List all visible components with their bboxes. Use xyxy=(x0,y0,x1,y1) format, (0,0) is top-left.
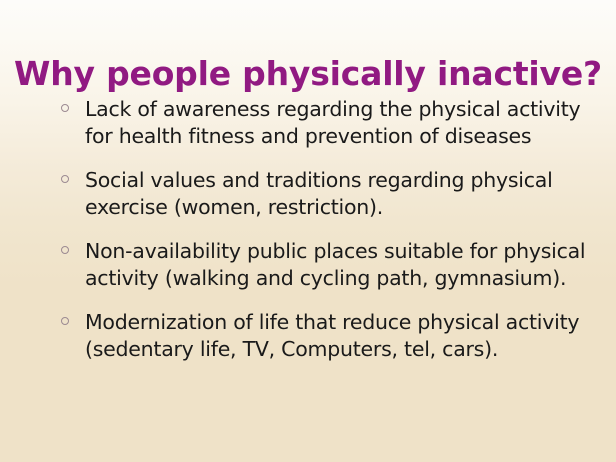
bullet-item-2-line-2: exercise (women, restriction). xyxy=(85,194,570,221)
bullet-item-3-line-2: activity (walking and cycling path, gymn… xyxy=(85,265,570,292)
hollow-circle-bullet-icon xyxy=(61,246,69,254)
bullet-item-1-line-2: for health fitness and prevention of dis… xyxy=(85,123,570,150)
bullet-item-4-line-2: (sedentary life, TV, Computers, tel, car… xyxy=(85,336,570,363)
presentation-slide: Why people physically inactive? Lack of … xyxy=(0,0,616,462)
bullet-item-3: Non-availability public places suitable … xyxy=(58,238,570,292)
hollow-circle-bullet-icon xyxy=(61,317,69,325)
bullet-item-2: Social values and traditions regarding p… xyxy=(58,167,570,221)
bullet-item-2-line-1: Social values and traditions regarding p… xyxy=(85,167,570,194)
bullet-item-3-line-1: Non-availability public places suitable … xyxy=(85,238,570,265)
bullet-item-4-line-1: Modernization of life that reduce physic… xyxy=(85,309,570,336)
bullet-item-4: Modernization of life that reduce physic… xyxy=(58,309,570,363)
hollow-circle-bullet-icon xyxy=(61,175,69,183)
bullet-item-1: Lack of awareness regarding the physical… xyxy=(58,96,570,150)
bullet-list: Lack of awareness regarding the physical… xyxy=(58,96,570,363)
slide-title: Why people physically inactive? xyxy=(0,56,616,92)
bullet-item-3-text: Non-availability public places suitable … xyxy=(85,238,570,292)
bullet-item-1-text: Lack of awareness regarding the physical… xyxy=(85,96,570,150)
bullet-item-4-text: Modernization of life that reduce physic… xyxy=(85,309,570,363)
hollow-circle-bullet-icon xyxy=(61,104,69,112)
bullet-item-1-line-1: Lack of awareness regarding the physical… xyxy=(85,96,570,123)
bullet-item-2-text: Social values and traditions regarding p… xyxy=(85,167,570,221)
